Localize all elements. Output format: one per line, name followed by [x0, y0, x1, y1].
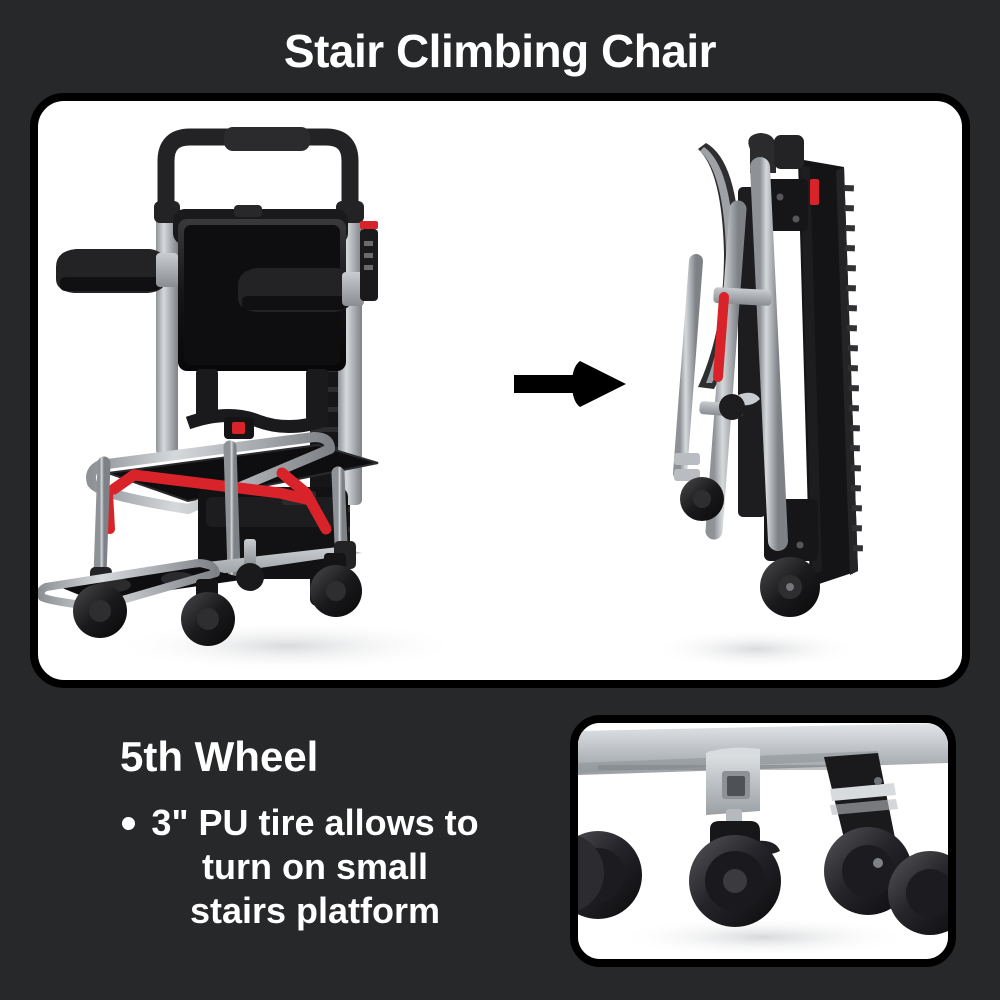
main-product-photo	[38, 101, 962, 680]
armrest-left-art	[56, 249, 178, 293]
arrow-right-icon	[514, 361, 626, 407]
feature-block: 5th Wheel 3" PU tire allows to turn on s…	[60, 735, 530, 933]
page-title: Stair Climbing Chair	[0, 28, 1000, 74]
fifth-wheel-detail-panel	[570, 715, 956, 967]
armrest-right-art	[238, 268, 364, 312]
product-photo-panel	[30, 93, 970, 688]
fifth-wheel-detail-photo	[578, 723, 948, 959]
feature-heading: 5th Wheel	[60, 735, 530, 779]
list-item: 3" PU tire allows to turn on small stair…	[60, 801, 530, 933]
chair-unfolded-art	[41, 127, 378, 646]
feature-bullet-list: 3" PU tire allows to turn on small stair…	[60, 801, 530, 933]
chair-folded-art	[674, 133, 863, 617]
feature-bullet-text: 3" PU tire allows to turn on small stair…	[150, 801, 480, 933]
poster-root: Stair Climbing Chair	[0, 0, 1000, 1000]
bullet-dot-icon	[122, 817, 135, 830]
